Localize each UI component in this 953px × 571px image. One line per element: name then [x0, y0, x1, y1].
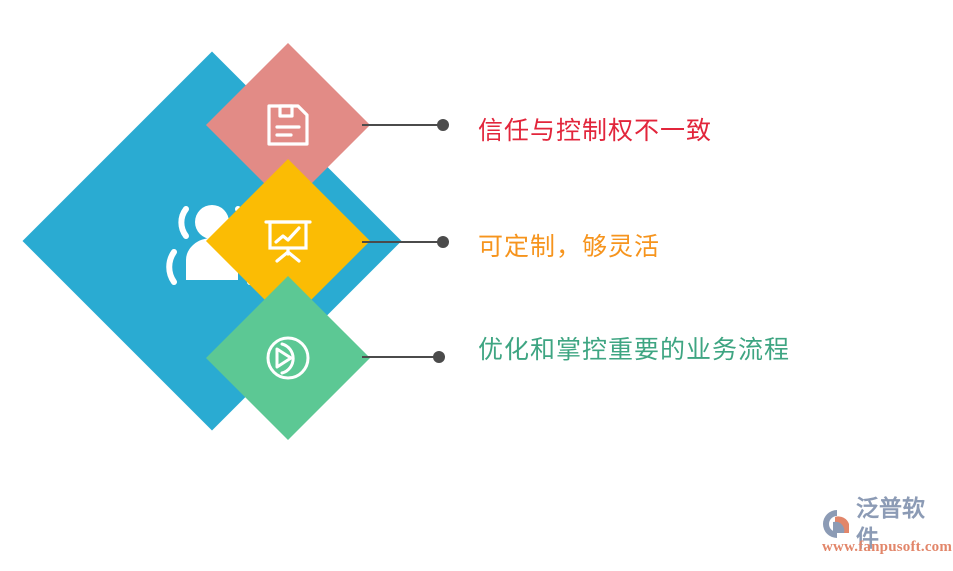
connector-stroke: [362, 356, 434, 358]
connector-stroke: [362, 124, 438, 126]
logo-url: www.fanpusoft.com: [822, 539, 944, 556]
item-label-trust-control: 信任与控制权不一致: [478, 111, 712, 147]
infographic-canvas: 信任与控制权不一致 可定制，够灵活 优化和掌控重要的业务流程 泛普软件 www.…: [0, 0, 953, 571]
save-floppy-disk-icon: [265, 102, 311, 148]
fanpu-logo-icon: [822, 509, 854, 539]
connector-dot: [437, 236, 449, 248]
logo-row: 泛普软件: [822, 508, 944, 540]
connector-line-1: [362, 119, 449, 131]
connector-line-2: [362, 236, 449, 248]
item-label-optimize-business-process: 优化和掌控重要的业务流程: [478, 330, 790, 366]
connector-dot: [433, 351, 445, 363]
brand-logo[interactable]: 泛普软件 www.fanpusoft.com: [822, 508, 944, 560]
presentation-chart-icon: [264, 218, 312, 264]
circular-arrow-flow-icon: [264, 334, 312, 382]
item-label-customizable-flexible: 可定制，够灵活: [478, 227, 660, 263]
connector-dot: [437, 119, 449, 131]
connector-stroke: [362, 241, 438, 243]
connector-line-3: [362, 351, 445, 363]
